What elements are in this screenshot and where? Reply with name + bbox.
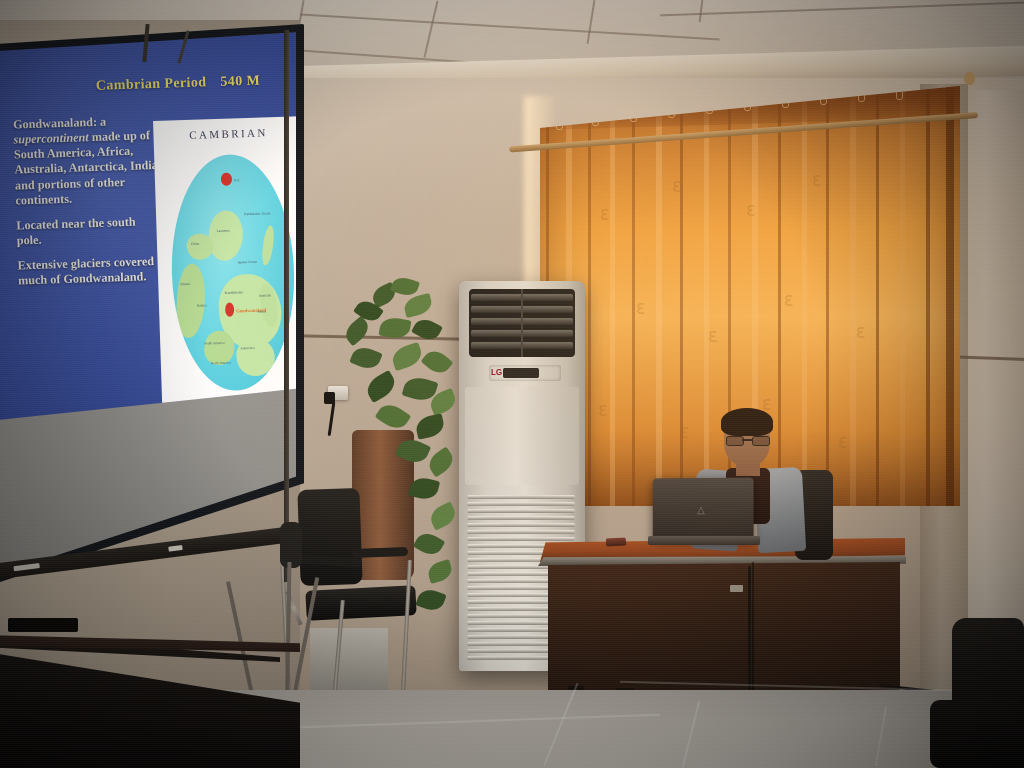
map-caption: CAMBRIAN	[153, 126, 296, 143]
ac-top-vent	[469, 289, 575, 357]
map-label-iapetus: Iapetus Ocean	[238, 260, 257, 265]
map-label-china: China	[191, 242, 199, 246]
bullet-emphasis: supercontinent	[13, 130, 89, 146]
map-label-panthalassic: Panthalassic Ocean	[244, 211, 270, 216]
landmass-laurentia	[206, 209, 245, 262]
corner-chair-seat	[930, 700, 1024, 768]
bullet-lead: Gondwanaland: a	[13, 115, 107, 132]
slide-title: Cambrian Period540 M	[96, 72, 296, 94]
screen-bar-sticker	[168, 545, 183, 552]
ac-front-face	[465, 387, 579, 485]
chair-seat	[305, 585, 416, 621]
curtain-rod-finial	[964, 72, 975, 85]
projected-slide: Cambrian Period540 M Gondwanaland: a sup…	[0, 30, 296, 420]
screen-side-pole	[284, 30, 289, 582]
map-label-kazakhstania: Kazakhstania	[225, 290, 243, 295]
laptop-brand-logo: △	[694, 505, 708, 517]
marker-gondwanaland	[225, 303, 234, 317]
map-label-antarctica: Antarctica	[240, 346, 254, 350]
landmass-siberia	[174, 263, 207, 339]
map-label-africa: Africa	[257, 309, 266, 313]
eyeglasses-icon	[726, 436, 768, 444]
landmass-baltica	[260, 225, 276, 266]
map-label-ny: N.Y.	[234, 178, 240, 182]
slide-map-panel: CAMBRIAN	[153, 116, 296, 420]
projection-screen[interactable]: Cambrian Period540 M Gondwanaland: a sup…	[0, 24, 312, 624]
ac-display	[503, 368, 539, 378]
hair	[721, 408, 773, 436]
slide-title-age: 540 M	[220, 74, 260, 90]
desk-lock	[730, 585, 743, 592]
map-label-laurentia: Laurentia	[217, 229, 230, 233]
slide-bullet-location: Located near the south pole.	[16, 214, 162, 249]
room-scene: ℇ ℇ ℇ ℇ ℇ ℇ ℇ ℇ ℇ ℇ ℇ ℇ	[0, 0, 1024, 768]
laptop-base	[648, 536, 760, 545]
slide-bullet-gondwanaland: Gondwanaland: a supercontinent made up o…	[13, 113, 161, 208]
screen-bar-sticker	[13, 563, 39, 571]
foreground-object	[8, 618, 78, 632]
map-label-north-america: North America	[211, 361, 231, 366]
cambrian-globe: N.Y. Gondwanaland Laurentia China Siberi…	[168, 153, 296, 393]
slide-body: Gondwanaland: a supercontinent made up o…	[13, 113, 164, 299]
mobile-phone[interactable]	[606, 537, 626, 546]
ac-brand-logo: LG	[491, 367, 501, 378]
map-label-siberia: Siberia	[180, 282, 190, 286]
map-label-australia: Australia	[259, 293, 272, 297]
map-label-south-america: South America	[204, 341, 224, 346]
slide-title-text: Cambrian Period	[96, 75, 207, 94]
map-label-baltica: Baltica	[197, 303, 207, 307]
marker-ny	[221, 173, 232, 186]
slide-bullet-glaciers: Extensive glaciers covered much of Gondw…	[17, 254, 163, 289]
